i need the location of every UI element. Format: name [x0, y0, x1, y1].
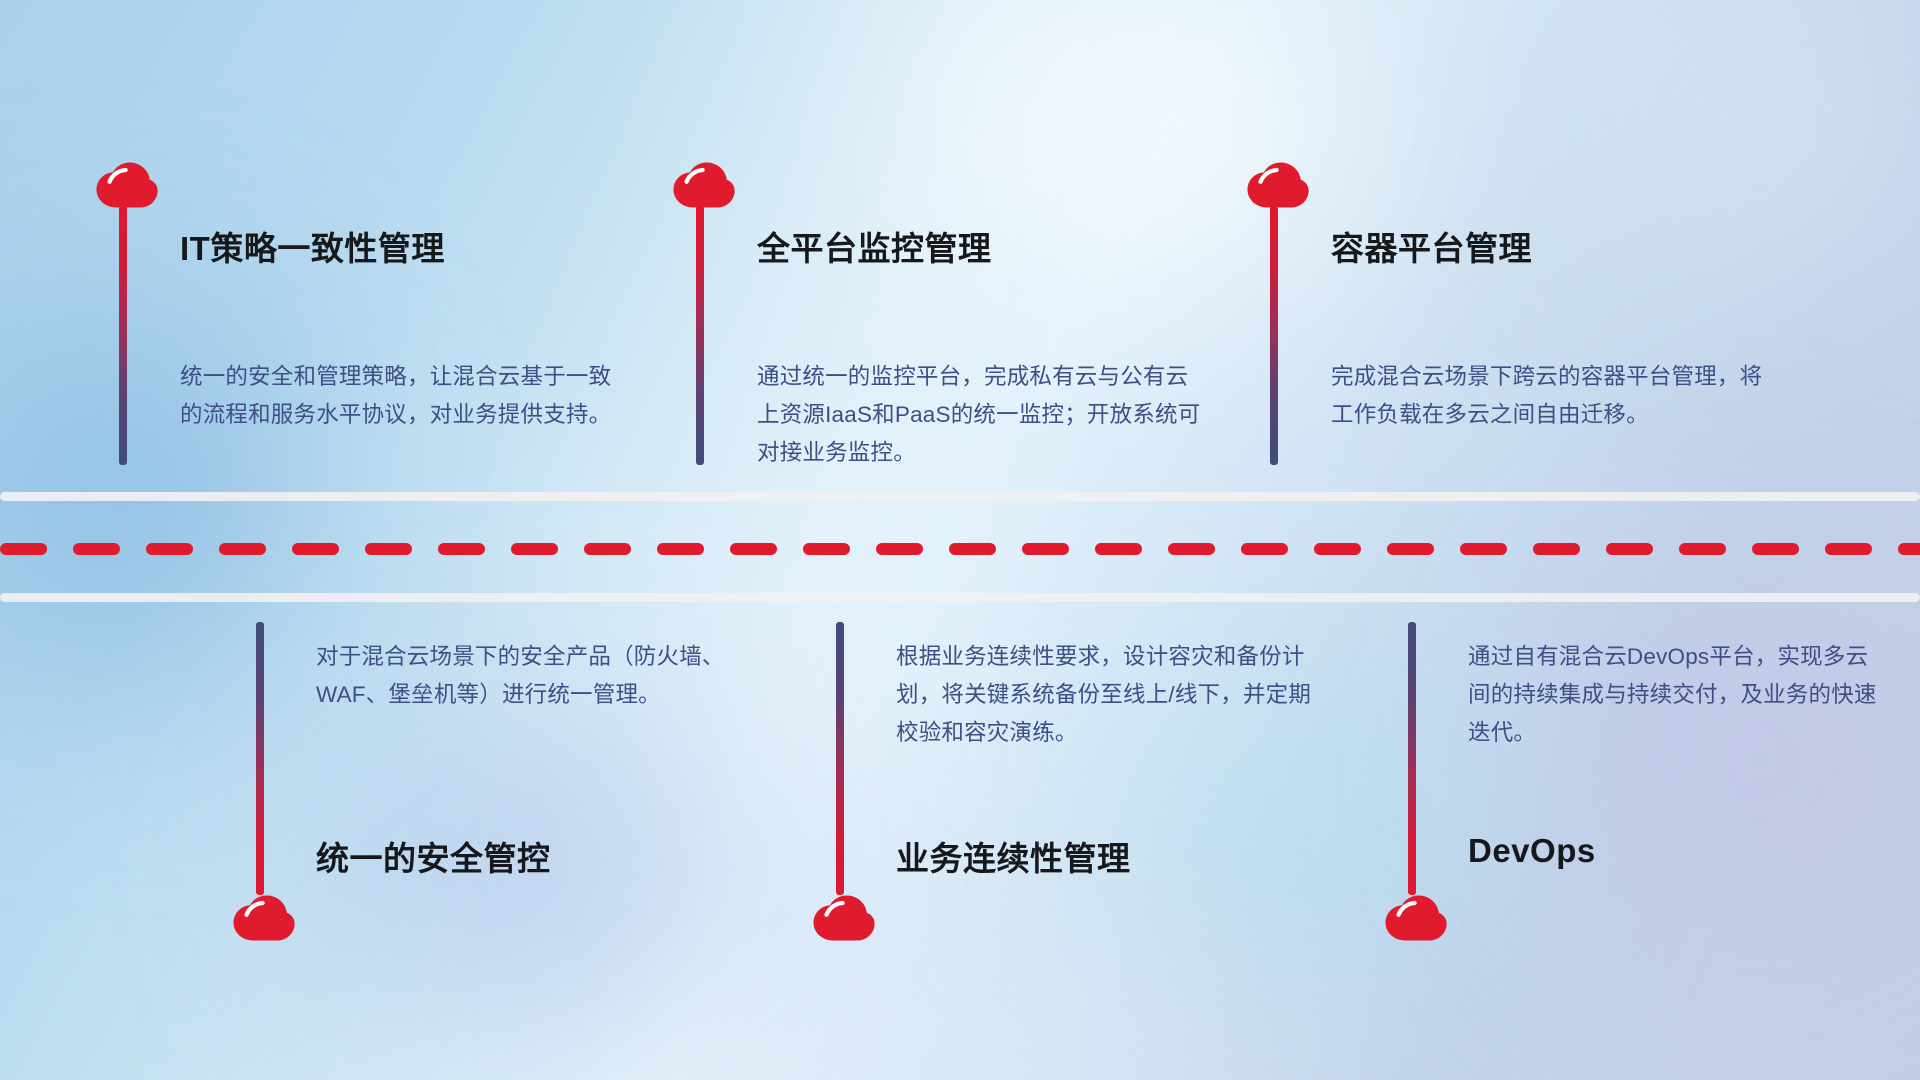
divider-dash	[1825, 543, 1872, 555]
divider-dash	[511, 543, 558, 555]
capability-description: 统一的安全和管理策略，让混合云基于一致的流程和服务水平协议，对业务提供支持。	[180, 358, 620, 434]
divider-dash	[803, 543, 850, 555]
divider-dash	[438, 543, 485, 555]
divider-dash	[1533, 543, 1580, 555]
divider-dash	[1387, 543, 1434, 555]
divider-dash	[949, 543, 996, 555]
cloud-icon	[233, 895, 295, 941]
divider-dash	[1022, 543, 1069, 555]
capability-description: 通过自有混合云DevOps平台，实现多云间的持续集成与持续交付，及业务的快速迭代…	[1468, 638, 1888, 752]
divider-dash	[1460, 543, 1507, 555]
divider-dash	[292, 543, 339, 555]
capability-title: 统一的安全管控	[316, 832, 551, 880]
divider-line-lower	[0, 593, 1920, 602]
capability-title: 全平台监控管理	[757, 222, 992, 270]
divider-dash	[1095, 543, 1142, 555]
timeline-stem	[836, 622, 844, 895]
divider-dash	[657, 543, 704, 555]
divider-dash	[1241, 543, 1288, 555]
capability-title: 业务连续性管理	[896, 832, 1131, 880]
divider-dash	[1606, 543, 1653, 555]
divider-dash	[876, 543, 923, 555]
divider-dash	[584, 543, 631, 555]
capability-title: IT策略一致性管理	[180, 222, 445, 270]
cloud-icon	[1385, 895, 1447, 941]
timeline-stem	[119, 206, 127, 465]
divider-dash	[1314, 543, 1361, 555]
cloud-icon	[1247, 162, 1309, 208]
capability-title: DevOps	[1468, 832, 1596, 870]
infographic-canvas: IT策略一致性管理 统一的安全和管理策略，让混合云基于一致的流程和服务水平协议，…	[0, 0, 1920, 1080]
capability-description: 对于混合云场景下的安全产品（防火墙、WAF、堡垒机等）进行统一管理。	[316, 638, 756, 714]
divider-dash	[0, 543, 47, 555]
divider-dash	[146, 543, 193, 555]
divider-line-dashed	[0, 543, 1920, 555]
divider-dash	[365, 543, 412, 555]
timeline-stem	[1408, 622, 1416, 895]
divider-dash	[1898, 543, 1920, 555]
timeline-stem	[1270, 206, 1278, 465]
capability-title: 容器平台管理	[1331, 222, 1532, 270]
divider-dash	[73, 543, 120, 555]
divider-dash	[1168, 543, 1215, 555]
cloud-icon	[813, 895, 875, 941]
cloud-icon	[673, 162, 735, 208]
capability-description: 通过统一的监控平台，完成私有云与公有云上资源IaaS和PaaS的统一监控；开放系…	[757, 358, 1205, 472]
capability-description: 根据业务连续性要求，设计容灾和备份计划，将关键系统备份至线上/线下，并定期校验和…	[896, 638, 1328, 752]
divider-dash	[219, 543, 266, 555]
capability-description: 完成混合云场景下跨云的容器平台管理，将工作负载在多云之间自由迁移。	[1331, 358, 1767, 434]
timeline-stem	[256, 622, 264, 895]
cloud-icon	[96, 162, 158, 208]
timeline-stem	[696, 206, 704, 465]
divider-dash	[1679, 543, 1726, 555]
divider-dash	[730, 543, 777, 555]
divider-dash	[1752, 543, 1799, 555]
divider-line-upper	[0, 492, 1920, 501]
